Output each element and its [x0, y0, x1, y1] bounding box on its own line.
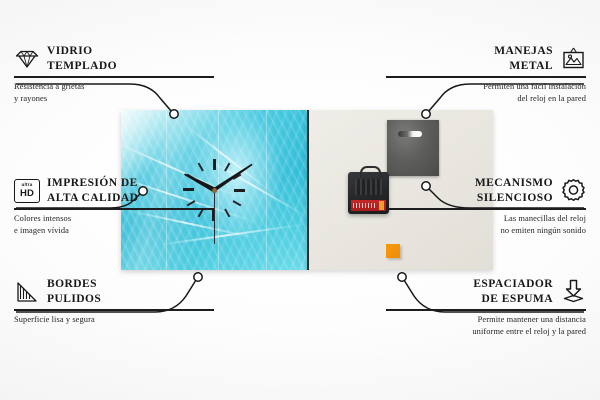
- movement-hanger-loop: [360, 166, 381, 177]
- feature-description: Permiten una fácil instalación del reloj…: [386, 81, 586, 105]
- feature-tempered-glass: VIDRIO TEMPLADO Resistencia a grietas y …: [14, 44, 214, 105]
- feature-divider: [386, 76, 586, 77]
- feature-description: Permite mantener una distancia uniforme …: [386, 314, 586, 338]
- feature-title: MECANISMO SILENCIOSO: [475, 176, 553, 205]
- feature-header: BORDES PULIDOS: [14, 277, 214, 306]
- feature-foam-spacer: ESPACIADOR DE ESPUMA Permite mantener un…: [386, 277, 586, 338]
- movement-ribs: [355, 179, 382, 195]
- ultra-hd-icon: ultra HD: [14, 178, 40, 204]
- metal-hanger-plate: [387, 120, 439, 176]
- battery-terminal: [379, 201, 384, 210]
- feature-title: VIDRIO TEMPLADO: [47, 44, 117, 73]
- feature-divider: [386, 208, 586, 209]
- feature-divider: [14, 76, 214, 77]
- feature-description: Resistencia a grietas y rayones: [14, 81, 214, 105]
- feature-title: IMPRESIÓN DE ALTA CALIDAD: [47, 176, 138, 205]
- feature-header: VIDRIO TEMPLADO: [14, 44, 214, 73]
- feature-description: Superficie lisa y segura: [14, 314, 214, 326]
- feature-divider: [14, 309, 214, 310]
- feature-title: MANEJAS METAL: [494, 44, 553, 73]
- picture-hanger-icon: [560, 46, 586, 72]
- hd-badge-hd-label: HD: [20, 189, 34, 199]
- feature-header: ultra HD IMPRESIÓN DE ALTA CALIDAD: [14, 176, 214, 205]
- foam-spacer-icon: [560, 279, 586, 305]
- hd-badge: ultra HD: [14, 179, 40, 203]
- feature-title: ESPACIADOR DE ESPUMA: [473, 277, 553, 306]
- feature-divider: [386, 309, 586, 310]
- feature-header: MANEJAS METAL: [386, 44, 586, 73]
- diamond-icon: [14, 46, 40, 72]
- product-infographic: VIDRIO TEMPLADO Resistencia a grietas y …: [0, 0, 600, 400]
- gear-icon: [560, 178, 586, 204]
- feature-title: BORDES PULIDOS: [47, 277, 101, 306]
- polished-edges-icon: [14, 279, 40, 305]
- feature-header: ESPACIADOR DE ESPUMA: [386, 277, 586, 306]
- feature-polished-edges: BORDES PULIDOS Superficie lisa y segura: [14, 277, 214, 326]
- feature-metal-hangers: MANEJAS METAL Permiten una fácil instala…: [386, 44, 586, 105]
- battery-label: [353, 203, 377, 208]
- feature-description: Colores intensos e imagen vívida: [14, 213, 214, 237]
- battery: [351, 200, 386, 211]
- hanger-slot: [398, 131, 422, 137]
- clock-movement: [348, 172, 389, 214]
- feature-silent-mechanism: MECANISMO SILENCIOSO Las manecillas del …: [386, 176, 586, 237]
- feature-hd-print: ultra HD IMPRESIÓN DE ALTA CALIDAD Color…: [14, 176, 214, 237]
- feature-divider: [14, 208, 214, 209]
- feature-header: MECANISMO SILENCIOSO: [386, 176, 586, 205]
- feature-description: Las manecillas del reloj no emiten ningú…: [386, 213, 586, 237]
- foam-spacer-pad: [386, 244, 400, 258]
